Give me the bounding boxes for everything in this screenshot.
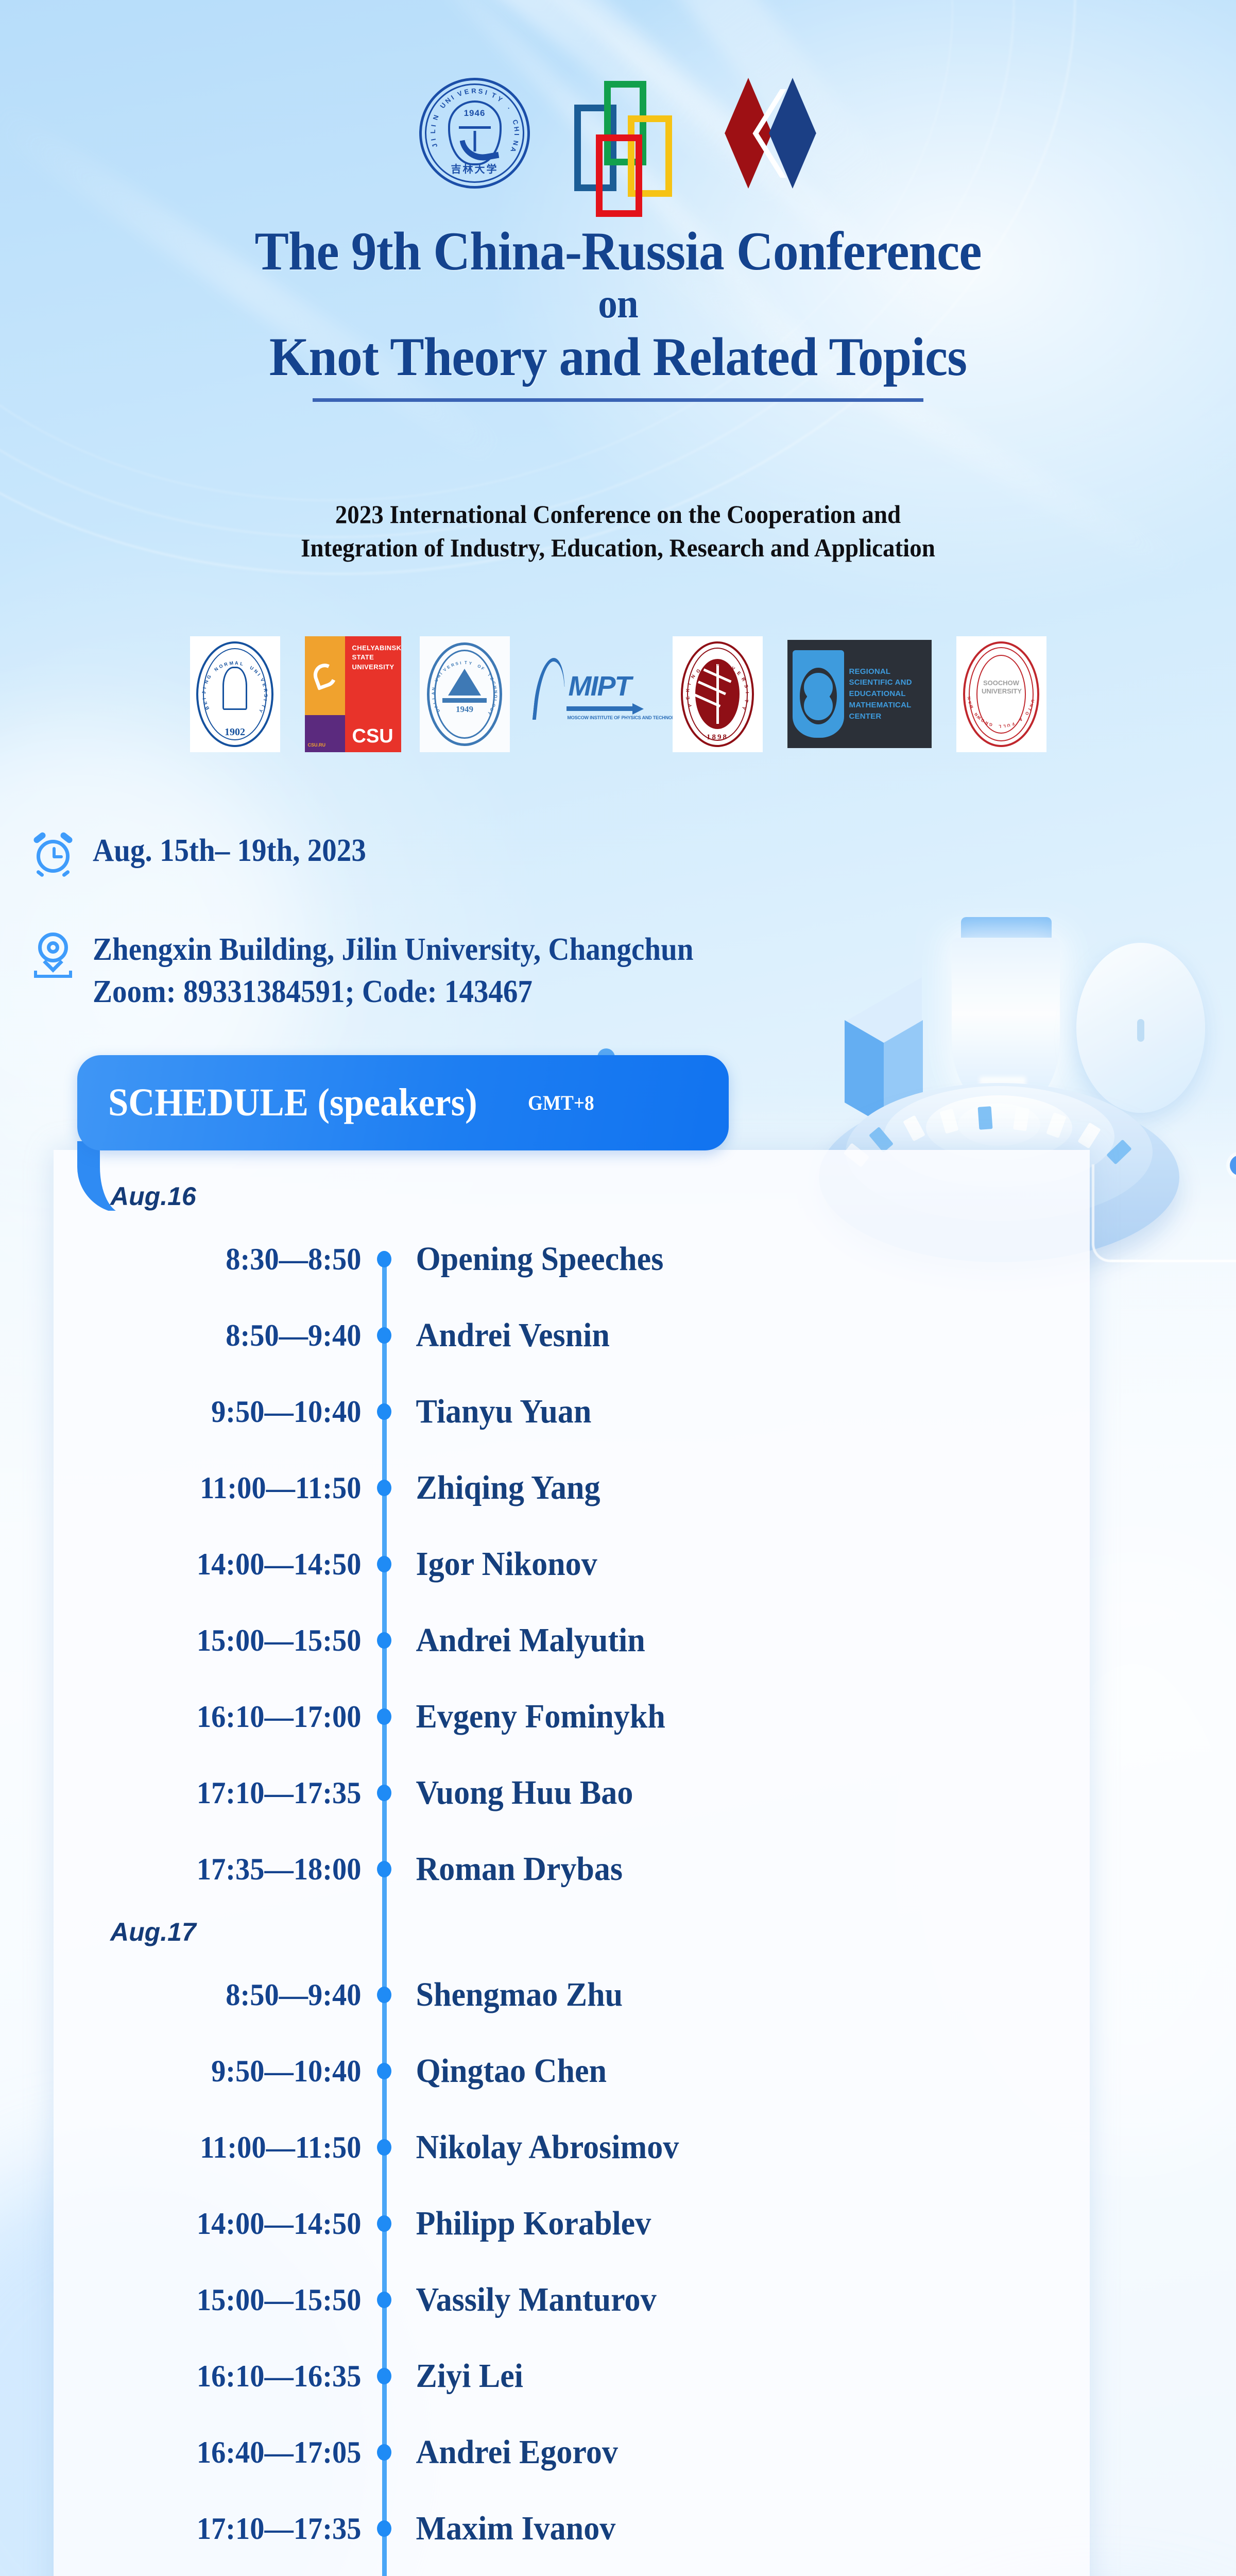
timeline-dot: [373, 1831, 396, 1907]
title-line-2: on: [37, 281, 1199, 328]
regional-mathematical-center-logo: REGIONAL SCIENTIFIC AND EDUCATIONAL MATH…: [787, 640, 932, 748]
schedule-row: 8:50—9:40Shengmao Zhu: [54, 1957, 1090, 2033]
schedule-time: 8:50—9:40: [73, 1977, 373, 2013]
soochow-university-logo: SOOCHOW UNIVERSITY UNTO A FULL GROWN MAN: [956, 636, 1046, 752]
schedule-banner-title: SCHEDULE (speakers): [108, 1080, 477, 1125]
schedule-speaker: Opening Speeches: [396, 1240, 663, 1279]
schedule-day-separator: Aug.16: [54, 1172, 1090, 1221]
schedule-time: 14:00—14:50: [73, 1547, 373, 1582]
schedule-day-separator: Aug.17: [54, 1907, 1090, 1957]
schedule-list: Aug.168:30—8:50Opening Speeches8:50—9:40…: [54, 1150, 1090, 2576]
peking-university-logo: 1898 PEKING UNIVERSITY: [673, 636, 763, 752]
csu-mark-icon: [310, 660, 339, 690]
timeline-dot: [373, 1526, 396, 1602]
schedule-row: 15:00—15:50Andrei Malyutin: [54, 1602, 1090, 1679]
schedule-speaker: Evgeny Fominykh: [396, 1697, 665, 1736]
schedule-speaker: Tianyu Yuan: [396, 1392, 591, 1431]
schedule-speaker: Vassily Manturov: [396, 2280, 657, 2319]
schedule-speaker: Andrei Egorov: [396, 2433, 618, 2472]
title-line-3: Knot Theory and Related Topics: [37, 327, 1199, 387]
interlocking-squares-knot-icon: [574, 78, 677, 189]
illustration-tick: [977, 1106, 992, 1130]
timeline-dot: [373, 1755, 396, 1831]
schedule-row: 16:10—17:00Evgeny Fominykh: [54, 1679, 1090, 1755]
schedule-row: 17:35—18:00Roman Drybas: [54, 1831, 1090, 1907]
sponsor-logo-row: BEIJING NORMAL UNIVERSITY 1902 BEIJING N…: [0, 635, 1236, 753]
timeline-dot: [373, 1374, 396, 1450]
schedule-row: 17:10—17:35Maxim Ivanov: [54, 2490, 1090, 2567]
logo-arc-text: PEKING UNIVERSITY: [681, 641, 754, 747]
schedule-row: 8:30—8:50Opening Speeches: [54, 1221, 1090, 1297]
illustration-disc: [1076, 943, 1205, 1113]
schedule-row: 16:10—16:35Ziyi Lei: [54, 2338, 1090, 2414]
logo-line-3: EDUCATIONAL: [849, 688, 912, 700]
beijing-normal-university-logo: BEIJING NORMAL UNIVERSITY 1902 BEIJING N…: [190, 636, 280, 752]
logo-arc-text: BEIJING NORMAL UNIVERSITY: [196, 641, 273, 747]
schedule-day-label: Aug.16: [54, 1181, 373, 1211]
timeline-dot: [373, 1221, 396, 1297]
schedule-speaker: Andrei Malyutin: [396, 1621, 645, 1660]
timeline-segment: [373, 1172, 396, 1221]
schedule-row: 16:40—17:05Andrei Egorov: [54, 2414, 1090, 2490]
schedule-speaker: Philipp Korablev: [396, 2204, 651, 2243]
mipt-peak-icon: [532, 658, 569, 720]
event-venue-row: Zhengxin Building, Jilin University, Cha…: [30, 928, 746, 1013]
schedule-banner: SCHEDULE (speakers) GMT+8: [77, 1055, 729, 1150]
schedule-time: 14:00—14:50: [73, 2206, 373, 2242]
illustration-node-line: [1092, 1164, 1236, 1262]
mipt-logo: MIPT MOSCOW INSTITUTE OF PHYSICS AND TEC…: [535, 653, 648, 735]
schedule-time: 16:40—17:05: [73, 2435, 373, 2470]
knot-mark-icon: [793, 650, 844, 738]
conference-subtitle: 2023 International Conference on the Coo…: [0, 498, 1236, 565]
location-pin-icon: [30, 928, 76, 980]
schedule-row: 11:00—11:50Zhiqing Yang: [54, 1450, 1090, 1526]
schedule-speaker: Ziyi Lei: [396, 2357, 523, 2396]
schedule-speaker: Andrei Vesnin: [396, 1316, 610, 1355]
sino-russian-diamond-icon: [722, 78, 817, 189]
jilin-university-seal-icon: 1946 吉林大学 JILIN UNIVERSITY · CHINA: [419, 78, 530, 189]
schedule-time: 9:50—10:40: [73, 1394, 373, 1430]
conference-title: The 9th China-Russia Conference on Knot …: [0, 222, 1236, 402]
schedule-row: 14:00—14:50Igor Nikonov: [54, 1526, 1090, 1602]
schedule-row: 9:50—10:40Tianyu Yuan: [54, 1374, 1090, 1450]
timeline-dot: [373, 1957, 396, 2033]
logo-arc-text: DALIAN UNIVERSITY OF TECHNOLOGY: [426, 641, 503, 747]
schedule-time: 15:00—15:50: [73, 1623, 373, 1658]
alarm-clock-icon: [30, 829, 76, 881]
schedule-row: 9:50—10:40Qingtao Chen: [54, 2033, 1090, 2109]
timeline-dot: [373, 1450, 396, 1526]
event-zoom: Zoom: 89331384591; Code: 143467: [93, 971, 694, 1013]
logo-line-1: REGIONAL: [849, 666, 912, 677]
title-line-1: The 9th China-Russia Conference: [37, 222, 1199, 281]
schedule-time: 16:10—16:35: [73, 2359, 373, 2394]
timeline-dot: [373, 2567, 396, 2576]
seal-ring-text: JILIN UNIVERSITY · CHINA: [419, 78, 530, 189]
schedule-speaker: Maxim Ivanov: [396, 2509, 615, 2548]
timeline-dot: [373, 1602, 396, 1679]
logo-line-4: MATHEMATICAL: [849, 700, 912, 711]
logo-line-2: SCIENTIFIC AND: [849, 677, 912, 688]
logo-arc-text: UNTO A FULL GROWN MAN: [963, 641, 1039, 747]
timeline-dot: [373, 2185, 396, 2262]
schedule-speaker: Vuong Huu Bao: [396, 1773, 633, 1812]
schedule-time: 17:35—18:00: [73, 1852, 373, 1887]
logo-line-5: CENTER: [849, 711, 912, 722]
schedule-row: 15:00—15:50Vassily Manturov: [54, 2262, 1090, 2338]
logo-line-1: CHELYABINSK: [352, 643, 402, 653]
event-date: Aug. 15th– 19th, 2023: [93, 829, 366, 872]
schedule-time: 11:00—11:50: [73, 1470, 373, 1506]
timeline-dot: [373, 2262, 396, 2338]
chelyabinsk-state-university-logo: CHELYABINSK STATE UNIVERSITY CSU CSU.RU: [305, 636, 395, 752]
schedule-speaker: Qingtao Chen: [396, 2052, 607, 2091]
schedule-time: 17:10—17:35: [73, 2511, 373, 2547]
logo-line-3: UNIVERSITY: [352, 663, 402, 672]
event-info: Aug. 15th– 19th, 2023 Zhengxin Building,…: [30, 829, 746, 1013]
schedule-time: 15:00—15:50: [73, 2282, 373, 2318]
logo-line-2: STATE: [352, 653, 402, 663]
logo-url: CSU.RU: [308, 743, 326, 748]
timeline-dot: [373, 1679, 396, 1755]
timeline-dot: [373, 2033, 396, 2109]
schedule-time: 11:00—11:50: [73, 2130, 373, 2165]
logo-full-name: MOSCOW INSTITUTE OF PHYSICS AND TECHNOLO…: [568, 716, 685, 720]
schedule-speaker: Shengmao Zhu: [396, 1975, 623, 2014]
event-venue: Zhengxin Building, Jilin University, Cha…: [93, 928, 694, 971]
schedule-speaker: Igor Nikonov: [396, 1545, 597, 1584]
schedule-speaker: Zhiqing Yang: [396, 1468, 600, 1507]
subtitle-line-1: 2023 International Conference on the Coo…: [37, 498, 1199, 531]
schedule-banner-timezone: GMT+8: [528, 1091, 594, 1115]
timeline-segment: [373, 1907, 396, 1957]
dalian-university-of-technology-logo: 1949 DALIAN UNIVERSITY OF TECHNOLOGY: [420, 636, 510, 752]
schedule-time: 8:30—8:50: [73, 1242, 373, 1277]
schedule-row: 17:35—18:00Liliya Grunvald: [54, 2567, 1090, 2576]
schedule-row: 14:00—14:50Philipp Korablev: [54, 2185, 1090, 2262]
schedule-speaker: Nikolay Abrosimov: [396, 2128, 679, 2167]
timeline-dot: [373, 2490, 396, 2567]
schedule-time: 17:10—17:35: [73, 1775, 373, 1811]
timeline-dot: [373, 1297, 396, 1374]
schedule-row: 11:00—11:50Nikolay Abrosimov: [54, 2109, 1090, 2185]
subtitle-line-2: Integration of Industry, Education, Rese…: [37, 531, 1199, 565]
header-logo-row: 1946 吉林大学 JILIN UNIVERSITY · CHINA: [0, 66, 1236, 200]
schedule-time: 9:50—10:40: [73, 2054, 373, 2089]
schedule-row: 17:10—17:35Vuong Huu Bao: [54, 1755, 1090, 1831]
schedule-time: 8:50—9:40: [73, 1318, 373, 1353]
timeline-dot: [373, 2414, 396, 2490]
schedule-row: 8:50—9:40Andrei Vesnin: [54, 1297, 1090, 1374]
logo-abbr: CSU: [352, 726, 393, 746]
timeline-dot: [373, 2109, 396, 2185]
schedule-time: 16:10—17:00: [73, 1699, 373, 1735]
title-divider: [313, 398, 923, 402]
schedule-day-label: Aug.17: [54, 1917, 373, 1947]
schedule-speaker: Roman Drybas: [396, 1850, 623, 1889]
event-date-row: Aug. 15th– 19th, 2023: [30, 829, 746, 881]
timeline-dot: [373, 2338, 396, 2414]
logo-abbr: MIPT: [569, 672, 631, 700]
